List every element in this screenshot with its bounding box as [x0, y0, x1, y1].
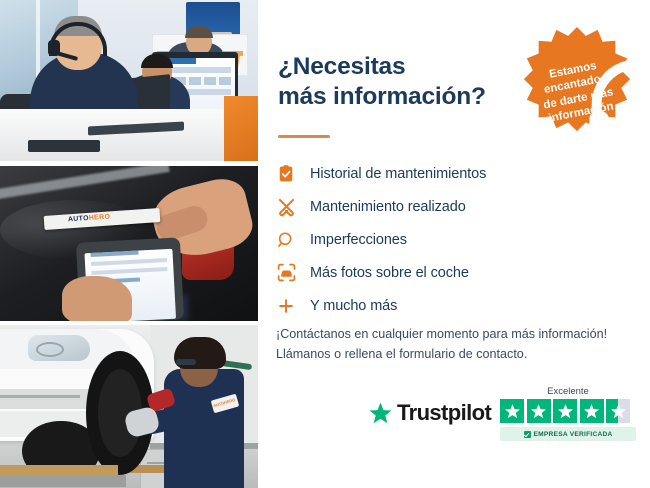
feature-item-maintenance-history[interactable]: Historial de mantenimientos — [276, 157, 536, 190]
desk-surface — [0, 109, 258, 161]
contact-paragraph: ¡Contáctanos en cualquier momento para m… — [276, 324, 628, 365]
plus-icon — [276, 296, 310, 316]
trustpilot-star-icon — [368, 401, 393, 426]
tablet-screen-line — [91, 258, 167, 266]
verified-company-badge: EMPRESA VERIFICADA — [500, 427, 636, 441]
feature-label: Mantenimiento realizado — [310, 199, 466, 215]
feature-item-much-more[interactable]: Y mucho más — [276, 289, 536, 322]
tools-wrench-screwdriver-icon — [276, 196, 310, 217]
orange-equipment — [224, 96, 258, 161]
contact-paragraph-line2: Llámanos o rellena el formulario de cont… — [276, 347, 527, 361]
feature-label: Imperfecciones — [310, 232, 407, 248]
info-panel: AUTOHERO — [0, 0, 650, 488]
title-underline-accent — [278, 135, 330, 138]
page-title-line2: más información? — [278, 83, 486, 110]
trustpilot-logo[interactable]: Trustpilot — [368, 400, 491, 426]
lift-pad — [0, 465, 118, 475]
car-photo-frame-icon — [276, 262, 310, 283]
contact-paragraph-line1: ¡Contáctanos en cualquier momento para m… — [276, 327, 607, 341]
feature-label: Más fotos sobre el coche — [310, 265, 469, 281]
feature-label: Y mucho más — [310, 298, 397, 314]
star-3 — [553, 399, 577, 423]
trustpilot-wordmark: Trustpilot — [397, 400, 491, 426]
page-title-line1: ¿Necesitas — [278, 53, 405, 80]
trustpilot-rating-block[interactable]: Trustpilot Excelente EMPRESA VERIFICADA — [368, 386, 636, 446]
star-rating — [500, 399, 636, 423]
tablet-holding-hand — [62, 276, 132, 321]
feature-label: Historial de mantenimientos — [310, 166, 486, 182]
clipboard-check-icon — [276, 164, 310, 184]
ruler-logo: AUTOHERO — [68, 213, 111, 223]
star-5-half — [606, 399, 630, 423]
car-inspection-ruler-tablet-photo: AUTOHERO — [0, 166, 258, 321]
star-1 — [500, 399, 524, 423]
star-4 — [580, 399, 604, 423]
tablet-screen-line — [90, 250, 139, 257]
verified-check-icon — [524, 431, 531, 438]
call-center-agents-photo — [0, 0, 258, 161]
support-badge: Estamos encantados de darte más informac… — [518, 25, 636, 143]
content-area: ¿Necesitas más información? Estamos enca… — [258, 0, 650, 488]
feature-item-more-photos[interactable]: Más fotos sobre el coche — [276, 256, 536, 289]
page-title: ¿Necesitas más información? — [278, 52, 528, 112]
photo-column: AUTOHERO — [0, 0, 258, 488]
magnifier-icon — [276, 230, 310, 250]
keyboard — [28, 140, 100, 152]
mechanic-wheel-inspection-photo — [0, 325, 258, 488]
feature-item-imperfections[interactable]: Imperfecciones — [276, 223, 536, 256]
lift-arm — [0, 475, 126, 487]
star-2 — [527, 399, 551, 423]
tablet-screen-line — [91, 267, 167, 275]
car-grille — [0, 389, 94, 409]
verified-label: EMPRESA VERIFICADA — [534, 431, 613, 438]
car-headlight — [28, 335, 90, 361]
rating-label: Excelente — [500, 386, 636, 397]
trustpilot-score: Excelente EMPRESA VERIFICADA — [500, 386, 636, 441]
feature-item-maintenance-done[interactable]: Mantenimiento realizado — [276, 190, 536, 223]
feature-list: Historial de mantenimientos Mantenimient… — [276, 157, 536, 322]
safety-glasses — [176, 359, 196, 365]
